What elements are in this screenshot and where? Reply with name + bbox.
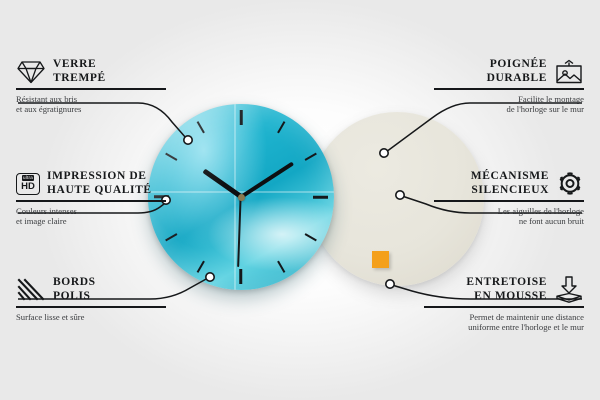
feature-header: ultra HD IMPRESSION DE HAUTE QUALITÉ	[16, 170, 166, 197]
foam-spacer-icon	[554, 276, 584, 303]
connector-dot-verre-trempe	[184, 136, 192, 144]
connector-dot-bords-polis	[206, 273, 214, 281]
subtitle-line-1: Facilite le montage	[434, 94, 584, 104]
title-line-1: VERRE	[53, 58, 106, 72]
subtitle-line-2: de l'horloge sur le mur	[434, 104, 584, 114]
subtitle-line-1: Surface lisse et sûre	[16, 312, 166, 322]
connector-dot-poignee	[380, 149, 388, 157]
title-line-2: DURABLE	[487, 72, 547, 86]
title-line-2: SILENCIEUX	[471, 184, 549, 198]
title-line-1: MÉCANISME	[471, 170, 549, 184]
title-line-1: ENTRETOISE	[466, 276, 547, 290]
feature-subtitle: Facilite le montage de l'horloge sur le …	[434, 94, 584, 114]
feature-subtitle: Surface lisse et sûre	[16, 312, 166, 322]
feature-subtitle: Couleurs intenses et image claire	[16, 206, 166, 226]
feature-header: VERRE TREMPÉ	[16, 58, 166, 85]
divider	[434, 200, 584, 202]
subtitle-line-2: ne font aucun bruit	[434, 216, 584, 226]
feature-subtitle: Les aiguilles de l'horloge ne font aucun…	[434, 206, 584, 226]
feature-title: VERRE TREMPÉ	[53, 58, 106, 85]
title-line-1: IMPRESSION DE	[47, 170, 152, 184]
divider	[424, 306, 584, 308]
feature-title: ENTRETOISE EN MOUSSE	[466, 276, 547, 303]
subtitle-line-1: Permet de maintenir une distance	[424, 312, 584, 322]
feature-header: MÉCANISME SILENCIEUX	[434, 170, 584, 197]
feature-poignee-durable[interactable]: POIGNÉE DURABLE Facilite le montage de l…	[434, 58, 584, 114]
title-line-2: POLIS	[53, 290, 96, 304]
divider	[434, 88, 584, 90]
connector-dot-entretoise	[386, 280, 394, 288]
divider	[16, 306, 166, 308]
feature-header: POIGNÉE DURABLE	[434, 58, 584, 85]
gear-icon	[556, 170, 584, 197]
diamond-icon	[16, 59, 46, 85]
feature-title: POIGNÉE DURABLE	[487, 58, 547, 85]
subtitle-line-2: uniforme entre l'horloge et le mur	[424, 322, 584, 332]
feature-header: ENTRETOISE EN MOUSSE	[424, 276, 584, 303]
feature-title: BORDS POLIS	[53, 276, 96, 303]
feature-verre-trempe[interactable]: VERRE TREMPÉ Résistant aux bris et aux é…	[16, 58, 166, 114]
feature-mecanisme-silencieux[interactable]: MÉCANISME SILENCIEUX Les aiguilles de l'…	[434, 170, 584, 226]
feature-title: MÉCANISME SILENCIEUX	[471, 170, 549, 197]
subtitle-line-1: Couleurs intenses	[16, 206, 166, 216]
divider	[16, 200, 166, 202]
feature-bords-polis[interactable]: BORDS POLIS Surface lisse et sûre	[16, 276, 166, 322]
title-line-1: POIGNÉE	[487, 58, 547, 72]
feature-subtitle: Permet de maintenir une distance uniform…	[424, 312, 584, 332]
infographic-canvas: VERRE TREMPÉ Résistant aux bris et aux é…	[0, 0, 600, 400]
title-line-1: BORDS	[53, 276, 96, 290]
title-line-2: TREMPÉ	[53, 72, 106, 86]
subtitle-line-1: Résistant aux bris	[16, 94, 166, 104]
divider	[16, 88, 166, 90]
diagonal-lines-icon	[16, 278, 46, 302]
feature-impression-haute-qualite[interactable]: ultra HD IMPRESSION DE HAUTE QUALITÉ Cou…	[16, 170, 166, 226]
badge-hd-text: HD	[21, 182, 35, 192]
ultra-hd-badge-icon: ultra HD	[16, 173, 40, 195]
wall-hanger-icon	[554, 59, 584, 85]
feature-header: BORDS POLIS	[16, 276, 166, 303]
feature-subtitle: Résistant aux bris et aux égratignures	[16, 94, 166, 114]
subtitle-line-2: et image claire	[16, 216, 166, 226]
subtitle-line-2: et aux égratignures	[16, 104, 166, 114]
feature-entretoise-en-mousse[interactable]: ENTRETOISE EN MOUSSE Permet de maintenir…	[424, 276, 584, 332]
connector-dot-mecanisme	[396, 191, 404, 199]
subtitle-line-1: Les aiguilles de l'horloge	[434, 206, 584, 216]
feature-title: IMPRESSION DE HAUTE QUALITÉ	[47, 170, 152, 197]
title-line-2: HAUTE QUALITÉ	[47, 184, 152, 198]
title-line-2: EN MOUSSE	[466, 290, 547, 304]
